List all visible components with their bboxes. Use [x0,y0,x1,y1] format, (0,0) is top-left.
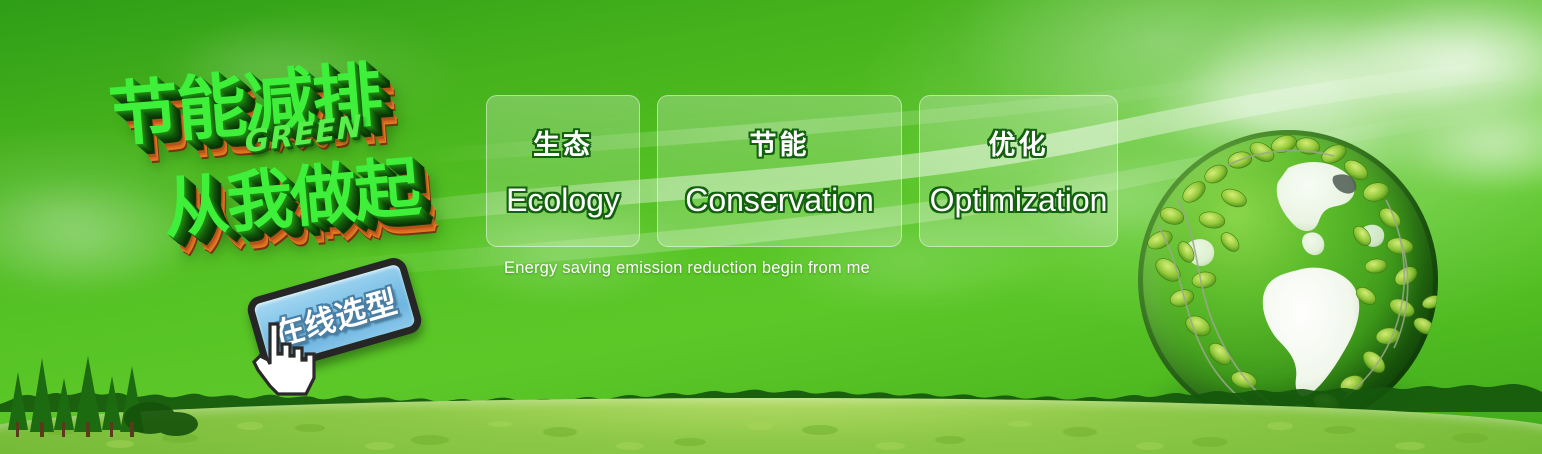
feature-card-optimization[interactable]: 优化 Optimization [919,95,1118,247]
conifer-trees-icon [0,352,210,437]
feature-card-title-en: Optimization [930,182,1108,219]
globe-leaf-overlay [1138,130,1438,430]
feature-card-conservation[interactable]: 节能 Conservation [657,95,902,247]
globe-sphere [1138,130,1438,430]
feature-card-title-en: Ecology [506,182,620,219]
promo-banner: 节能减排 GREEN 从我做起 生态 Ecology 节能 Conservati… [0,0,1542,454]
feature-card-title-cn: 生态 [533,123,593,162]
grass-field-icon [0,398,1542,454]
feature-card-title-cn: 节能 [750,123,810,162]
feature-card-title-en: Conservation [685,182,874,219]
leafy-earth-globe-icon [1138,130,1438,430]
feature-card-ecology[interactable]: 生态 Ecology [486,95,640,247]
tagline: Energy saving emission reduction begin f… [504,259,870,278]
feature-card-title-cn: 优化 [989,123,1049,162]
